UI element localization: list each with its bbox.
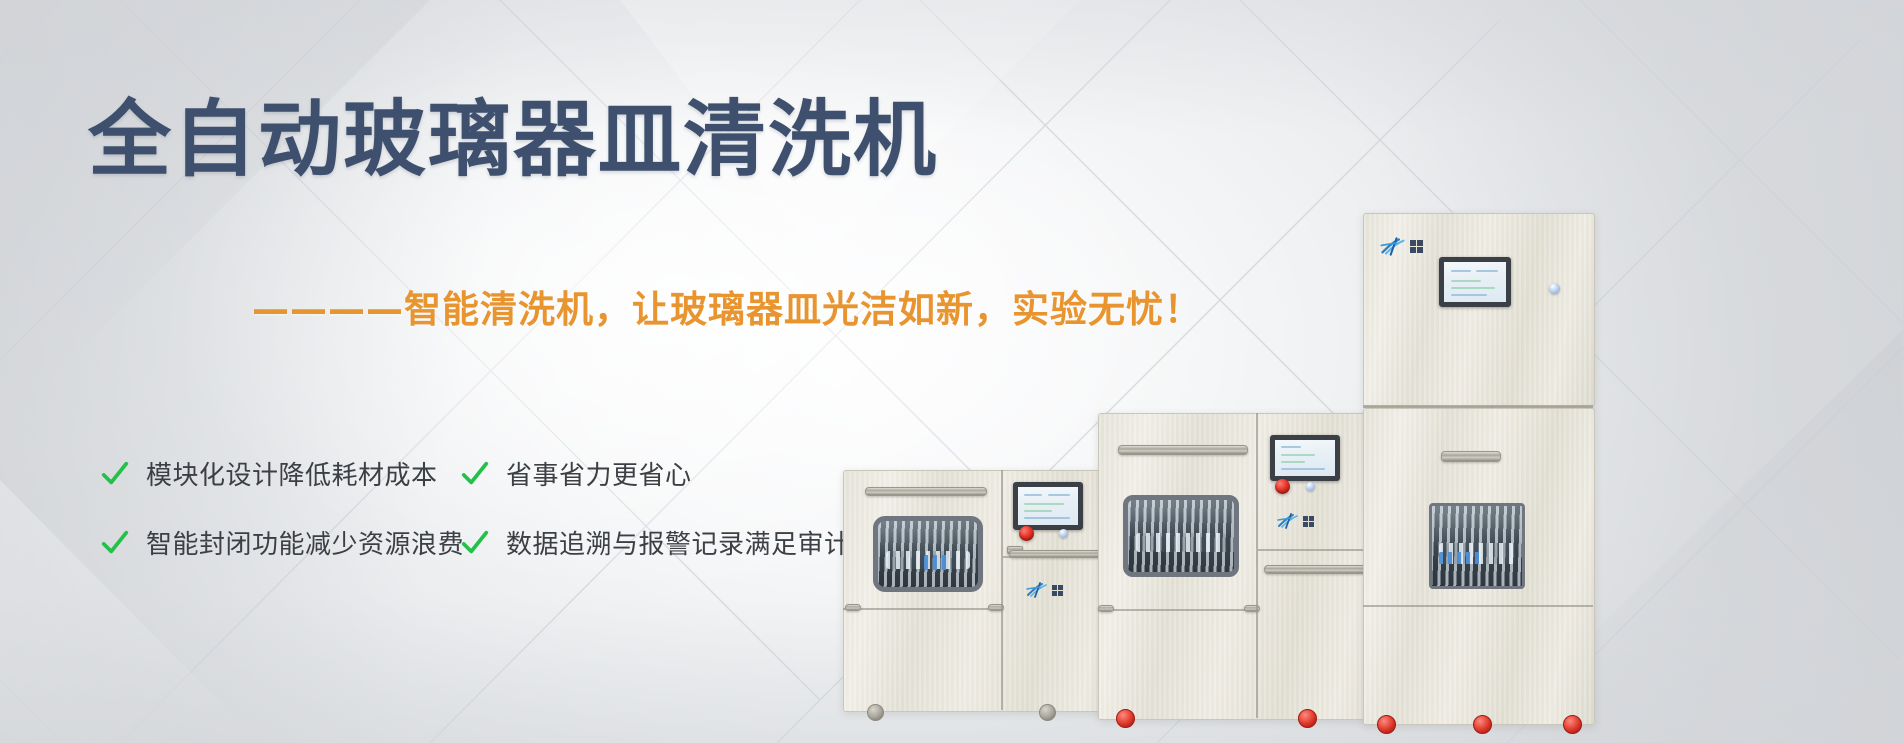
brand-logo-icon — [1379, 237, 1407, 256]
machine-3-lower-panel-seam — [1363, 605, 1593, 607]
machine-1-viewing-window[interactable] — [873, 516, 983, 592]
product-images — [873, 0, 1903, 743]
feature-label: 模块化设计降低耗材成本 — [146, 455, 438, 492]
brand-logo-icon — [1276, 513, 1300, 529]
glassware-load — [1128, 500, 1234, 572]
machine-3-caster-wheel — [1563, 715, 1582, 734]
blue-tube-rack — [1439, 552, 1480, 563]
check-icon — [460, 459, 490, 489]
brand-squares-icon — [1303, 516, 1314, 527]
blue-tube-rack — [924, 555, 950, 570]
glassware-load — [1432, 506, 1522, 586]
machine-1-emergency-stop-button[interactable] — [1019, 526, 1034, 541]
machine-1-column-seam — [1001, 470, 1003, 710]
machine-3-viewing-window[interactable] — [1429, 503, 1525, 589]
machine-2-viewing-window[interactable] — [1123, 495, 1239, 577]
glassware-load — [878, 521, 978, 587]
brand-logo-icon — [1025, 582, 1049, 598]
machine-3-indicator-light[interactable] — [1549, 283, 1560, 294]
machine-2-door-seam — [1098, 609, 1258, 611]
brand-squares-icon — [1052, 585, 1063, 596]
machine-2-caster-wheel — [1298, 709, 1317, 728]
machine-1-door-seam — [843, 608, 1003, 610]
machine-1-indicator-light[interactable] — [1059, 529, 1068, 538]
page-title: 全自动玻璃器皿清洗机 — [88, 95, 938, 185]
machine-1-lower-handle[interactable] — [845, 604, 861, 611]
machine-1-caster-wheel — [1039, 704, 1056, 721]
feature-item: 模块化设计降低耗材成本 — [100, 455, 460, 492]
product-banner: 全自动玻璃器皿清洗机 ————智能清洗机，让玻璃器皿光洁如新，实验无忧！ 模块化… — [0, 0, 1903, 743]
machine-1-top-handle[interactable] — [865, 487, 987, 496]
machine-3-brand-logo — [1379, 237, 1423, 256]
brand-squares-icon — [1410, 240, 1423, 253]
check-icon — [460, 528, 490, 558]
machine-3-touchscreen[interactable] — [1439, 257, 1511, 307]
machine-1-brand-logo — [1025, 582, 1063, 598]
machine-1-caster-wheel — [867, 704, 884, 721]
machine-3-caster-wheel — [1377, 715, 1396, 734]
machine-2-touchscreen[interactable] — [1270, 435, 1340, 481]
check-icon — [100, 528, 130, 558]
machine-2-caster-wheel — [1116, 709, 1135, 728]
product-machine-3 — [1363, 213, 1593, 723]
feature-label: 智能封闭功能减少资源浪费 — [146, 524, 464, 561]
product-machine-2 — [1098, 413, 1388, 718]
machine-2-lower-handle[interactable] — [1098, 605, 1114, 612]
machine-3-door-handle[interactable] — [1441, 451, 1501, 462]
machine-2-top-handle[interactable] — [1118, 445, 1248, 455]
feature-item: 智能封闭功能减少资源浪费 — [100, 524, 460, 561]
machine-2-emergency-stop-button[interactable] — [1275, 479, 1290, 494]
machine-2-column-seam — [1256, 413, 1258, 718]
machine-3-caster-wheel — [1473, 715, 1492, 734]
feature-label: 省事省力更省心 — [506, 455, 692, 492]
product-machine-1 — [843, 470, 1133, 710]
check-icon — [100, 459, 130, 489]
machine-2-indicator-light[interactable] — [1306, 482, 1315, 491]
machine-1-touchscreen[interactable] — [1013, 482, 1083, 530]
machine-2-brand-logo — [1276, 513, 1314, 529]
